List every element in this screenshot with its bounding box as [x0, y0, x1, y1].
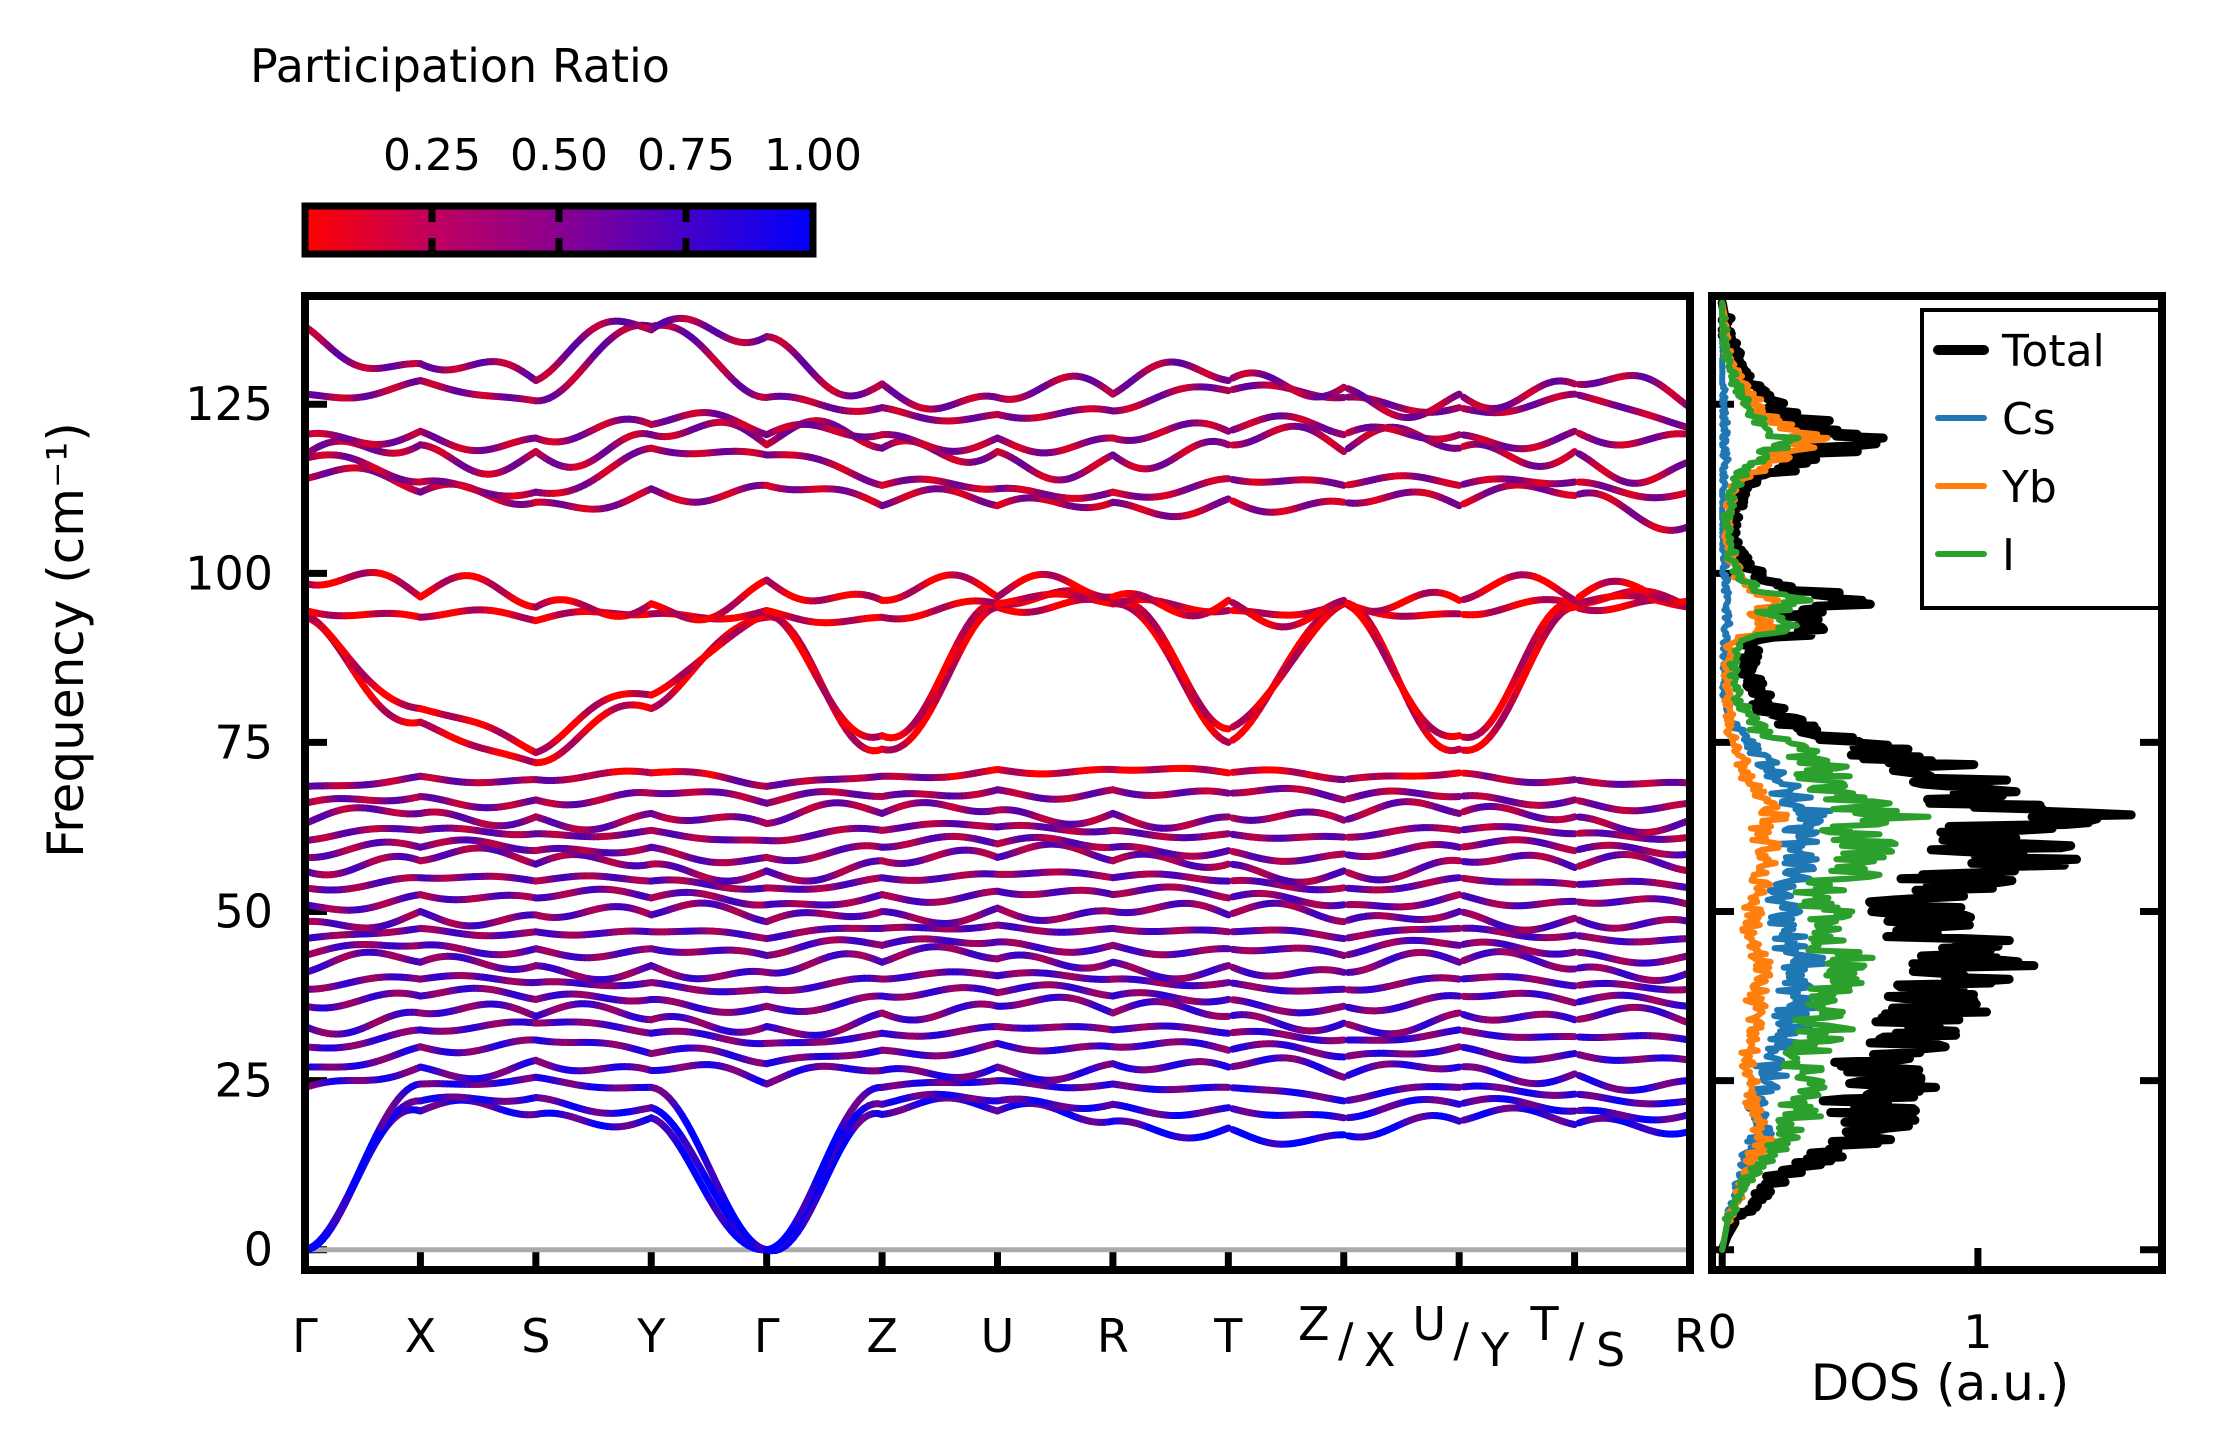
band-line-segment [1570, 1124, 1574, 1125]
colorbar-tick-labels: 0.250.500.751.00 [383, 130, 862, 181]
band-line-segment [1455, 1067, 1459, 1068]
bands-panel: 0255075100125 ΓXSYΓZURTZ/XU/YT/SR [120, 270, 1730, 1440]
colorbar-tick-label: 0.75 [637, 130, 735, 181]
band-line-segment [1224, 1108, 1228, 1109]
colorbar-tick-label: 1.00 [764, 130, 862, 181]
band-line-segment [1224, 999, 1228, 1000]
band-line-segment [1455, 1013, 1459, 1014]
band-line-segment [1455, 979, 1459, 980]
band-line-segment [1455, 961, 1459, 963]
band-line-segment [1224, 913, 1228, 915]
band-line-segment [1224, 897, 1228, 898]
y-tick-label: 100 [185, 546, 273, 600]
band-line-segment [1455, 895, 1459, 896]
y-tick-label: 50 [214, 885, 273, 939]
band-line-segment [1570, 866, 1574, 868]
band-line-segment [1339, 1100, 1343, 1101]
band-line-segment [1570, 1054, 1574, 1055]
y-tick-label: 125 [185, 377, 273, 431]
frequency-axis-label-group: Frequency (cm⁻¹) [38, 330, 128, 950]
band-line-segment [1339, 871, 1343, 873]
band-line-segment [1224, 1049, 1228, 1050]
band-line-segment [1224, 864, 1228, 865]
band-line-segment [1224, 1128, 1228, 1130]
band-line-segment [1570, 1018, 1574, 1019]
band-line-segment [1224, 966, 1228, 967]
band-line-segment [1455, 1047, 1459, 1048]
band-line-segment [1570, 1074, 1574, 1076]
band-line-segment [1339, 938, 1343, 939]
band-line-segment [1455, 1120, 1459, 1122]
band-curves [305, 318, 1690, 1250]
band-line-segment [1339, 954, 1343, 955]
band-line-segment [1455, 912, 1459, 914]
y-tick-label: 75 [214, 715, 273, 769]
band-line-segment [1570, 918, 1574, 919]
band-line-segment [1339, 905, 1343, 906]
band-line-segment [1339, 1117, 1343, 1118]
y-tick-label: 0 [244, 1223, 273, 1277]
band-line-segment [1570, 1094, 1574, 1095]
band-line-segment [1570, 952, 1574, 953]
phonon-figure: Participation Ratio 0.250.500.751.00 Fre… [0, 0, 2222, 1455]
bands-y-tick-labels: 0255075100125 [185, 377, 273, 1276]
band-line-segment [1224, 1066, 1228, 1067]
colorbar-group: Participation Ratio 0.250.500.751.00 [0, 10, 1100, 290]
band-line-segment [1339, 1076, 1343, 1077]
band-line-segment [1339, 1006, 1343, 1007]
band-line-segment [1339, 971, 1343, 972]
colorbar-tick-label: 0.50 [510, 130, 608, 181]
band-line-segment [1455, 1030, 1459, 1031]
band-line-segment [1339, 1023, 1343, 1025]
y-tick-label: 25 [214, 1054, 273, 1108]
colorbar-tick-label: 0.25 [383, 130, 481, 181]
y-axis-label: Frequency (cm⁻¹) [38, 422, 95, 858]
band-line-segment [1455, 1103, 1459, 1104]
band-line-segment [1570, 1002, 1574, 1003]
band-line-segment [1570, 935, 1574, 936]
band-line-segment [1339, 888, 1343, 889]
band-line-segment [1224, 983, 1228, 984]
colorbar-title: Participation Ratio [250, 39, 670, 93]
